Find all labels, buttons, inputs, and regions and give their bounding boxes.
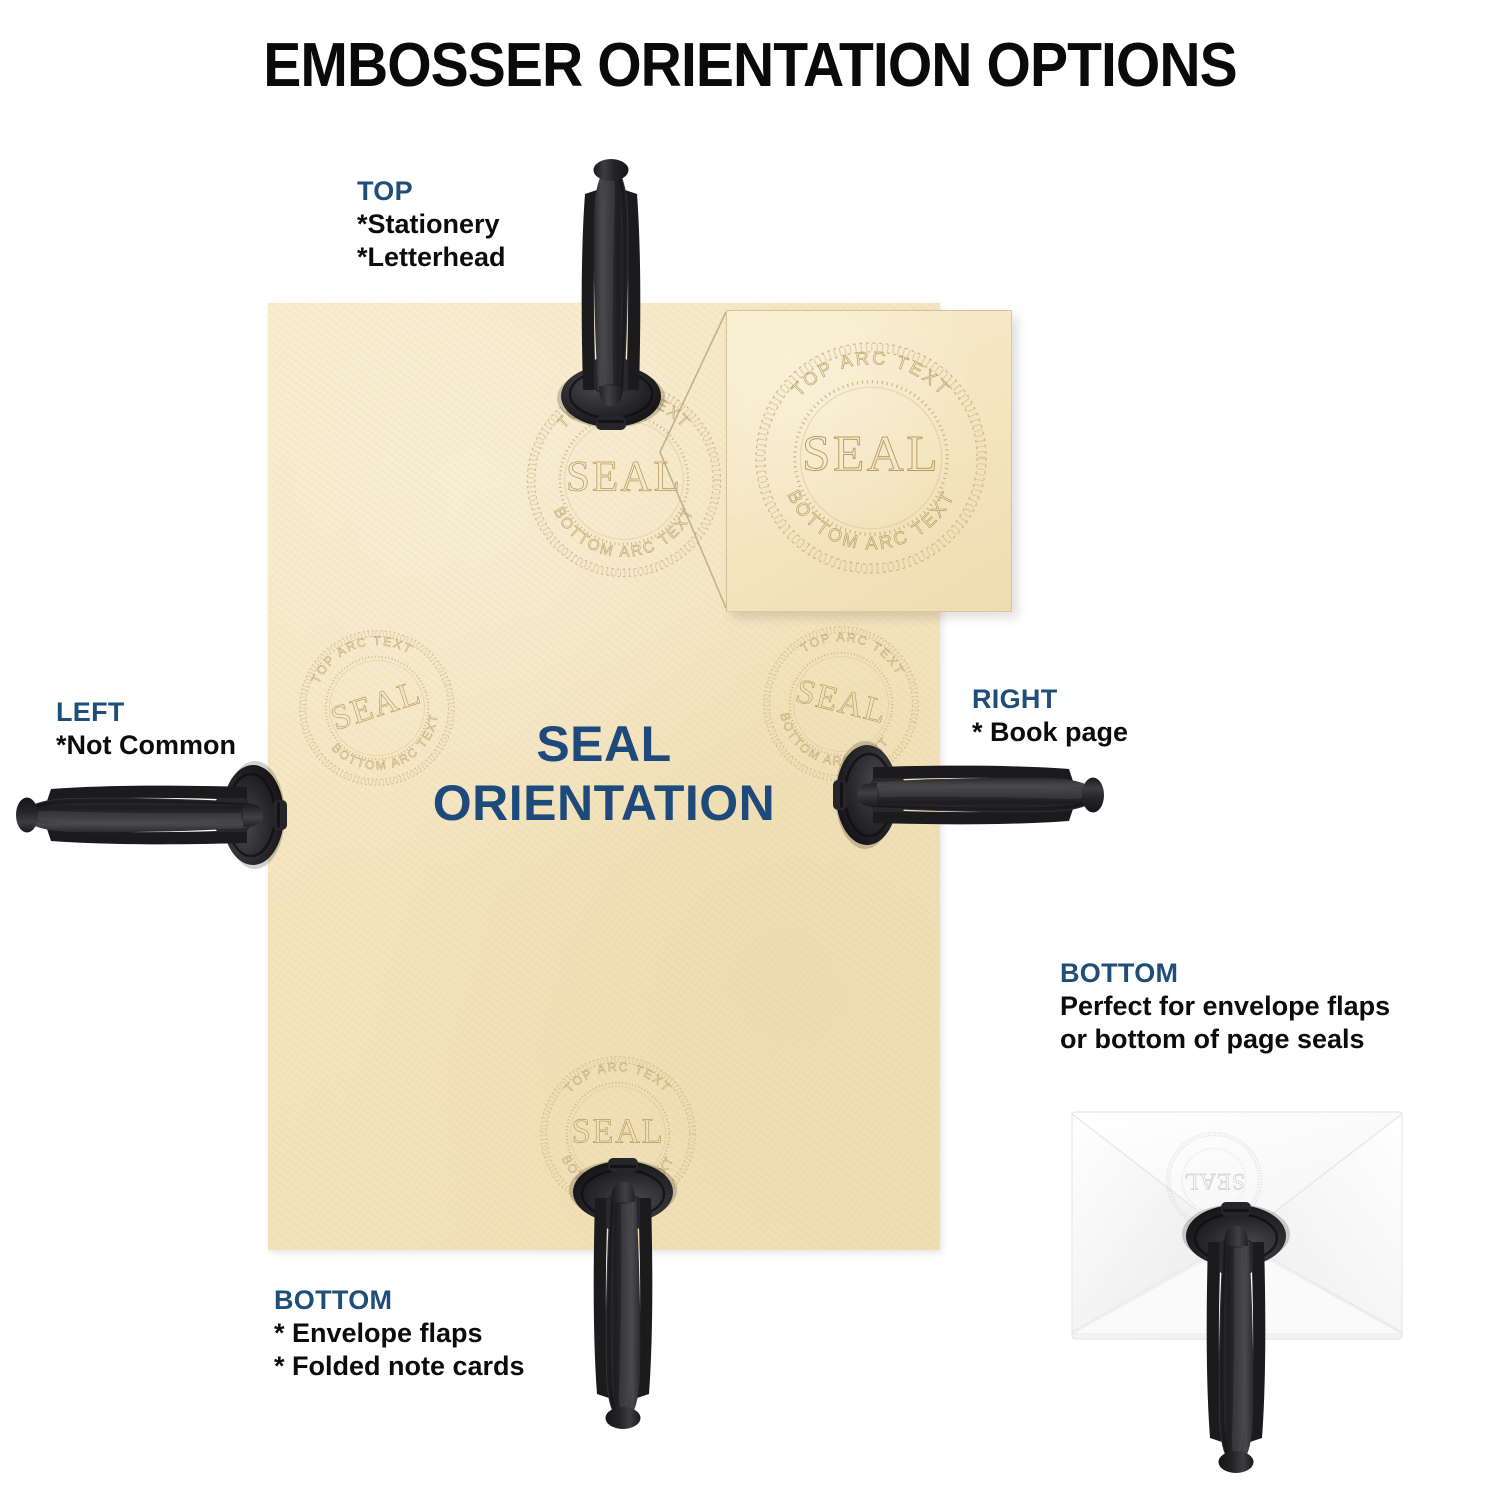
center-caption-line2: ORIENTATION (268, 774, 940, 833)
label-bottom-envelope-heading: BOTTOM (1060, 958, 1390, 990)
embosser-tool-bottom-envelope[interactable] (1176, 1184, 1296, 1484)
label-top-line-1: *Stationery (357, 208, 506, 241)
label-bottom-page-line-1: * Envelope flaps (274, 1317, 525, 1350)
label-left-heading: LEFT (56, 697, 236, 729)
label-right-line-1: * Book page (972, 716, 1128, 749)
embosser-tool-left[interactable] (5, 755, 305, 875)
label-right-heading: RIGHT (972, 684, 1128, 716)
label-top: TOP *Stationery *Letterhead (357, 176, 506, 275)
label-right: RIGHT * Book page (972, 684, 1128, 749)
embosser-tool-bottom-page[interactable] (563, 1140, 683, 1440)
label-bottom-page: BOTTOM * Envelope flaps * Folded note ca… (274, 1285, 525, 1384)
embosser-tool-top[interactable] (551, 148, 671, 448)
illustration-canvas: EMBOSSER ORIENTATION OPTIONS TOP ARC TEX… (0, 0, 1500, 1500)
label-bottom-envelope: BOTTOM Perfect for envelope flaps or bot… (1060, 958, 1390, 1057)
label-top-heading: TOP (357, 176, 506, 208)
label-bottom-page-line-2: * Folded note cards (274, 1350, 525, 1383)
page-title: EMBOSSER ORIENTATION OPTIONS (60, 30, 1440, 101)
label-left-line-1: *Not Common (56, 729, 236, 762)
magnified-seal-callout (726, 310, 1012, 612)
label-bottom-envelope-line-2: or bottom of page seals (1060, 1023, 1390, 1056)
label-left: LEFT *Not Common (56, 697, 236, 762)
label-bottom-page-heading: BOTTOM (274, 1285, 525, 1317)
label-top-line-2: *Letterhead (357, 241, 506, 274)
embossed-seal-magnified (746, 333, 996, 583)
center-caption-line1: SEAL (268, 715, 940, 774)
label-bottom-envelope-line-1: Perfect for envelope flaps (1060, 990, 1390, 1023)
center-caption: SEAL ORIENTATION (268, 715, 940, 833)
